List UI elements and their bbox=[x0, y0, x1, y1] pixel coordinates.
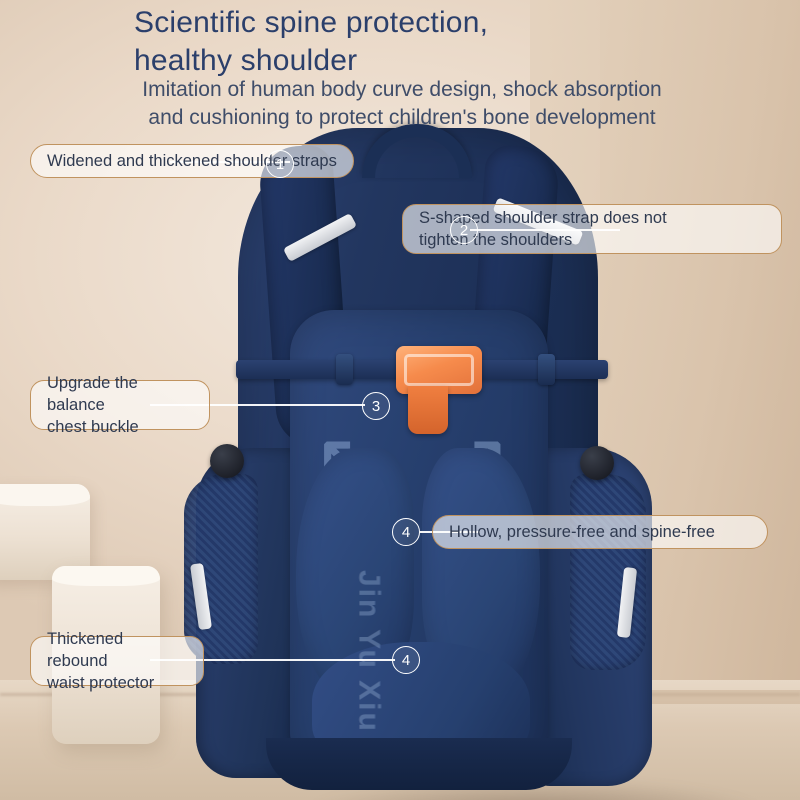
callout-3-badge: 3 bbox=[362, 392, 390, 420]
callout-1-badge: 1 bbox=[266, 150, 294, 178]
callout-4-label: Hollow, pressure-free and spine-free bbox=[432, 515, 768, 549]
callout-5-label: Thickened rebound waist protector bbox=[30, 636, 204, 686]
chest-strap-slider-left bbox=[336, 354, 353, 385]
callout-1-label: Widened and thickened shoulder straps bbox=[30, 144, 354, 178]
side-knob-left bbox=[210, 444, 244, 478]
product-infographic: ↖ ↗ ↙ ↘ Jin Yu Xiu Scientific spine prot… bbox=[0, 0, 800, 800]
callout-2-badge: 2 bbox=[450, 216, 478, 244]
callout-4-badge: 4 bbox=[392, 518, 420, 546]
chest-strap-slider-right bbox=[538, 354, 555, 385]
side-knob-right bbox=[580, 446, 614, 480]
headline-line-2: healthy shoulder bbox=[134, 42, 694, 80]
chest-buckle-tab bbox=[408, 386, 448, 434]
headline-line-1: Scientific spine protection, bbox=[134, 4, 694, 42]
page-subtitle: Imitation of human body curve design, sh… bbox=[74, 76, 730, 132]
subtitle-line-1: Imitation of human body curve design, sh… bbox=[74, 76, 730, 104]
backpack-bottom bbox=[266, 738, 572, 790]
brand-embossed-text: Jin Yu Xiu bbox=[352, 570, 386, 733]
subtitle-line-2: and cushioning to protect children's bon… bbox=[74, 104, 730, 132]
callout-5-badge: 4 bbox=[392, 646, 420, 674]
callout-3-label: Upgrade the balance chest buckle bbox=[30, 380, 210, 430]
page-title: Scientific spine protection, healthy sho… bbox=[134, 4, 694, 80]
